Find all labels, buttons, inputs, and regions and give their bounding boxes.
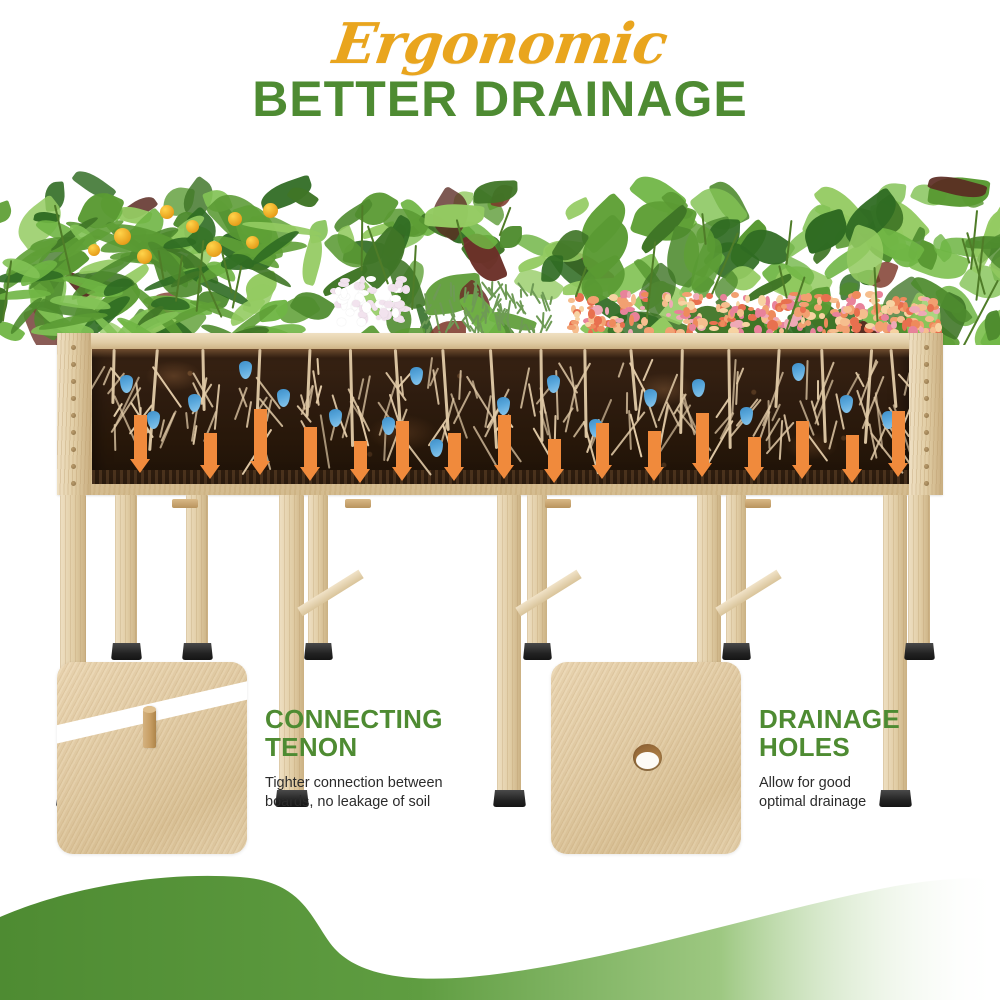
arrow-head [350, 469, 370, 483]
coral-blossom [821, 294, 831, 303]
feature-connecting-tenon: CONNECTING TENON Tighter connection betw… [57, 662, 505, 854]
drainage-arrow [130, 415, 150, 473]
coral-blossom [689, 324, 695, 331]
drainage-arrow [200, 433, 220, 479]
leaf [0, 200, 15, 225]
arrow-head [744, 467, 764, 481]
coral-blossom [629, 315, 633, 326]
drainage-arrow [744, 437, 764, 481]
coral-blossom [742, 322, 750, 328]
coral-blossom [699, 294, 704, 301]
white-blossom [357, 318, 365, 326]
coral-blossom [731, 292, 739, 298]
tenon-tab [745, 499, 771, 508]
coral-blossom [755, 308, 761, 318]
leg-foot-cap [904, 643, 935, 660]
arrow-shaft [134, 415, 147, 459]
drainage-arrow [792, 421, 812, 479]
soil-surface-line [92, 349, 909, 358]
drainage-hole-photo [551, 662, 741, 854]
citrus-fruit [137, 249, 152, 264]
coral-blossom [886, 300, 895, 307]
coral-blossom [850, 317, 858, 326]
white-blossom [362, 302, 371, 313]
screw-hole [71, 430, 76, 435]
coral-blossom [840, 318, 850, 326]
screw-hole [924, 481, 929, 486]
citrus-fruit [160, 205, 174, 219]
coral-blossom [805, 320, 811, 325]
planter-box-rim [57, 333, 943, 349]
arrow-shaft [846, 435, 859, 469]
coral-blossom [666, 313, 671, 317]
arrow-head [130, 459, 150, 473]
rosemary-needle [481, 301, 484, 310]
coral-blossom [709, 326, 719, 331]
arrow-head [842, 469, 862, 483]
drainage-description: Allow for good optimal drainage [759, 774, 999, 812]
white-blossom [366, 276, 376, 282]
coral-blossom [819, 313, 825, 318]
planter-leg [308, 495, 328, 645]
screw-hole [71, 379, 76, 384]
arrow-head [200, 465, 220, 479]
tenon-tab [545, 499, 571, 508]
white-blossom [337, 318, 347, 326]
drainage-arrow [592, 423, 612, 479]
leaf [473, 180, 518, 204]
rosemary-needle [476, 315, 478, 331]
screw-hole [71, 345, 76, 350]
citrus-fruit [186, 220, 199, 233]
coral-blossom [682, 292, 692, 297]
screw-hole [924, 447, 929, 452]
arrow-shaft [498, 415, 511, 465]
planter-leg [186, 495, 208, 645]
arrow-shaft [892, 411, 905, 463]
drainage-arrow [544, 439, 564, 483]
coral-blossom [674, 310, 684, 314]
tenon-photo [57, 662, 247, 854]
screw-hole [924, 345, 929, 350]
green-wave-decoration [0, 855, 1000, 1000]
drainage-arrow [250, 409, 270, 475]
screw-hole [924, 396, 929, 401]
arrow-shaft [596, 423, 609, 465]
coral-blossom [745, 295, 750, 303]
tenon-tab [172, 499, 198, 508]
screw-hole [71, 447, 76, 452]
arrow-head [644, 467, 664, 481]
coral-blossom [814, 304, 822, 311]
arrow-shaft [748, 437, 761, 467]
drainage-arrow [842, 435, 862, 483]
citrus-fruit [206, 241, 222, 257]
coral-blossom [925, 316, 933, 322]
coral-blossom [567, 325, 576, 329]
white-blossom [352, 300, 359, 307]
coral-blossom [721, 302, 730, 308]
rosemary-needle [449, 282, 451, 297]
arrow-shaft [448, 433, 461, 467]
coral-blossom [597, 326, 604, 332]
arrow-head [444, 467, 464, 481]
white-blossom [395, 280, 403, 288]
screw-hole [71, 413, 76, 418]
citrus-fruit [88, 244, 100, 256]
rosemary-needle [505, 284, 507, 300]
leg-foot-cap [182, 643, 213, 660]
coral-blossom [697, 318, 705, 322]
leg-foot-cap [523, 643, 552, 660]
coral-blossom [893, 309, 901, 314]
drainage-heading: DRAINAGE HOLES [759, 705, 999, 761]
coral-blossom [588, 296, 599, 303]
arrow-head [392, 467, 412, 481]
arrow-head [300, 467, 320, 481]
coral-blossom [588, 309, 596, 319]
arrow-head [692, 463, 712, 477]
arrow-head [888, 463, 908, 477]
arrow-shaft [648, 431, 661, 467]
screw-hole [71, 396, 76, 401]
coral-blossom [927, 304, 934, 312]
arrow-head [250, 461, 270, 475]
tenon-peg-icon [143, 706, 156, 748]
citrus-fruit [263, 203, 278, 218]
planter-post-left [57, 333, 91, 495]
coral-blossom [730, 309, 734, 318]
screw-hole [71, 481, 76, 486]
coral-blossom [836, 301, 840, 310]
arrow-shaft [696, 413, 709, 463]
coral-blossom [719, 308, 728, 313]
tenon-heading: CONNECTING TENON [265, 705, 505, 761]
screw-hole [71, 362, 76, 367]
root-branch [817, 380, 819, 400]
coral-blossom [909, 306, 919, 313]
citrus-fruit [114, 228, 131, 245]
drainage-arrow [644, 431, 664, 481]
coral-blossom [800, 306, 806, 313]
screw-hole [924, 362, 929, 367]
header-banner: Ergonomic BETTER DRAINAGE [0, 0, 1000, 140]
tenon-description: Tighter connection between boards, no le… [265, 774, 505, 812]
arrow-head [592, 465, 612, 479]
tenon-tab [345, 499, 371, 508]
coral-blossom [781, 304, 787, 309]
planter-leg [527, 495, 547, 645]
leaf [562, 197, 591, 220]
white-blossom [376, 315, 381, 320]
planter-post-right [909, 333, 943, 495]
coral-blossom [640, 306, 645, 310]
root-branch [626, 392, 628, 414]
coral-blossom [625, 307, 634, 312]
arrow-head [792, 465, 812, 479]
arrow-shaft [796, 421, 809, 465]
white-blossom [392, 308, 399, 318]
coral-blossom [852, 291, 860, 299]
screw-hole [924, 464, 929, 469]
coral-blossom [900, 297, 907, 301]
coral-blossom [585, 322, 591, 327]
white-blossom [367, 287, 377, 293]
rosemary-needle [519, 289, 521, 298]
arrow-shaft [304, 427, 317, 467]
white-blossom [341, 288, 346, 297]
screw-hole [71, 464, 76, 469]
coral-blossom [875, 321, 883, 332]
arrow-shaft [396, 421, 409, 467]
planter-leg [115, 495, 137, 645]
coral-blossom [881, 314, 888, 320]
page-title: BETTER DRAINAGE [0, 74, 1000, 124]
product-hero-illustration [0, 140, 1000, 660]
coral-blossom [617, 297, 622, 304]
coral-blossom [887, 308, 893, 314]
drainage-arrow [350, 441, 370, 483]
screw-hole [924, 379, 929, 384]
soil-cross-section [92, 349, 909, 484]
coral-blossom [720, 294, 727, 300]
citrus-fruit [228, 212, 242, 226]
feature-drainage-holes: DRAINAGE HOLES Allow for good optimal dr… [551, 662, 999, 854]
screw-hole [924, 430, 929, 435]
leg-foot-cap [722, 643, 751, 660]
drainage-arrow [494, 415, 514, 479]
coral-blossom [568, 298, 574, 303]
arrow-shaft [354, 441, 367, 469]
leg-foot-cap [111, 643, 142, 660]
citrus-fruit [246, 236, 259, 249]
coral-blossom [594, 316, 602, 324]
arrow-head [544, 469, 564, 483]
drainage-arrow [392, 421, 412, 481]
page-subtitle-script: Ergonomic [0, 16, 1000, 72]
drainage-arrow [692, 413, 712, 477]
arrow-shaft [204, 433, 217, 465]
planter-leg [908, 495, 930, 645]
arrow-shaft [548, 439, 561, 469]
drainage-hole-icon [633, 744, 662, 771]
drainage-text-block: DRAINAGE HOLES Allow for good optimal dr… [759, 705, 999, 812]
arrow-shaft [254, 409, 267, 461]
leg-foot-cap [304, 643, 333, 660]
white-blossom [346, 309, 355, 316]
drainage-arrow [300, 427, 320, 481]
planter-leg [726, 495, 746, 645]
drainage-arrow [888, 411, 908, 477]
screw-hole [924, 413, 929, 418]
arrow-head [494, 465, 514, 479]
drainage-arrow [444, 433, 464, 481]
coral-blossom [805, 293, 812, 302]
feature-panels: CONNECTING TENON Tighter connection betw… [0, 662, 1000, 872]
tenon-text-block: CONNECTING TENON Tighter connection betw… [265, 705, 505, 812]
support-brace [515, 570, 581, 617]
plant-foliage-group [0, 140, 1000, 345]
